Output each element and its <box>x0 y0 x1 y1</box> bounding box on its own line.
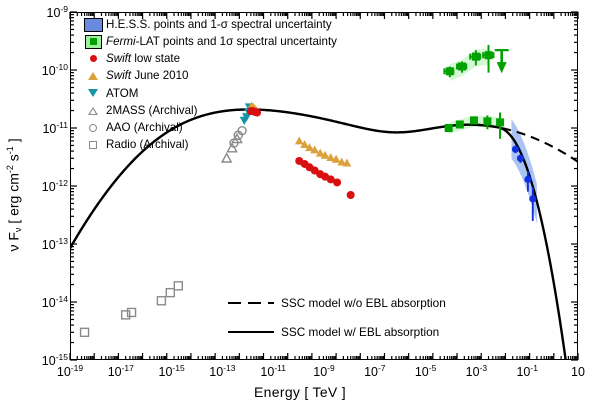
legend-item-atom[interactable]: ATOM <box>82 85 337 102</box>
hess-band-swatch-icon <box>82 18 104 32</box>
legend-item-radio[interactable]: Radio (Archival) <box>82 136 337 153</box>
teal-down-triangle-icon <box>82 89 104 97</box>
x-tick-exponent: -13 <box>223 363 235 373</box>
y-axis-title-end: ] <box>6 138 22 146</box>
x-tick-exponent: -9 <box>327 363 335 373</box>
legend-label-main: H.E.S.S. <box>106 18 150 31</box>
x-tick-mantissa: 10 <box>571 365 585 379</box>
x-tick-mantissa: 10 <box>260 365 274 379</box>
legend-item-aao[interactable]: AAO (Archival) <box>82 119 337 136</box>
legend-label: ATOM <box>104 88 138 100</box>
y-axis-title-prefix: ν F <box>6 232 22 251</box>
y-tick-exponent: -9 <box>60 4 68 14</box>
legend-label: Swift low state <box>104 53 180 65</box>
y-axis-title-sub: ν <box>13 228 23 233</box>
y-tick-exponent: -14 <box>56 294 68 304</box>
open-circle-icon <box>82 124 104 132</box>
x-tick-exponent: -19 <box>71 363 83 373</box>
x-tick-mantissa: 10 <box>415 365 429 379</box>
x-tick-mantissa: 10 <box>158 365 172 379</box>
y-tick-mantissa: 10 <box>47 6 61 20</box>
legend-item-swift-june[interactable]: Swift June 2010 <box>82 68 337 85</box>
annotation-text: SSC model w/ EBL absorption <box>281 325 439 339</box>
x-tick-exponent: -11 <box>274 363 286 373</box>
legend-item-2mass[interactable]: 2MASS (Archival) <box>82 102 337 119</box>
annotation-model-dashed: SSC model w/o EBL absorption <box>228 296 446 310</box>
legend-label-rest: June 2010 <box>131 69 188 82</box>
x-tick-mantissa: 10 <box>466 365 480 379</box>
y-tick-mantissa: 10 <box>42 238 56 252</box>
legend-label-italic: Swift <box>106 52 131 65</box>
y-tick-mantissa: 10 <box>42 180 56 194</box>
x-tick-mantissa: 10 <box>364 365 378 379</box>
x-tick-exponent: -1 <box>530 363 538 373</box>
y-tick-exponent: -11 <box>56 120 68 130</box>
legend-item-swift-low[interactable]: Swift low state <box>82 50 337 67</box>
legend-label: Radio (Archival) <box>104 139 188 151</box>
y-tick-mantissa: 10 <box>42 354 56 368</box>
open-square-icon <box>82 141 104 149</box>
annotation-model-solid: SSC model w/ EBL absorption <box>228 325 439 339</box>
y-axis-title-units: [ erg cm <box>6 173 22 227</box>
legend-item-hess[interactable]: H.E.S.S. points and 1-σ spectral uncerta… <box>82 16 337 33</box>
y-tick-mantissa: 10 <box>42 64 56 78</box>
y-tick-exponent: -15 <box>56 352 68 362</box>
x-tick-mantissa: 10 <box>57 365 71 379</box>
legend-label-italic: Fermi <box>106 35 136 48</box>
annotation-text: SSC model w/o EBL absorption <box>281 296 446 310</box>
legend-label-rest: low state <box>131 52 180 65</box>
y-axis-title: ν Fν [ erg cm-2 s-1 ] <box>5 95 23 295</box>
legend-label: 2MASS (Archival) <box>104 105 197 117</box>
x-tick-mantissa: 10 <box>209 365 223 379</box>
y-tick-exponent: -13 <box>56 236 68 246</box>
fermi-band-swatch-icon <box>82 35 104 49</box>
y-tick-mantissa: 10 <box>42 296 56 310</box>
x-tick-exponent: -17 <box>122 363 134 373</box>
x-tick-mantissa: 10 <box>516 365 530 379</box>
x-tick-exponent: -3 <box>480 363 488 373</box>
y-axis-title-mid: s <box>6 154 22 165</box>
orange-up-triangle-icon <box>82 72 104 80</box>
legend: H.E.S.S. points and 1-σ spectral uncerta… <box>82 16 337 154</box>
x-axis-title: Energy [ TeV ] <box>0 384 600 400</box>
y-tick-mantissa: 10 <box>42 122 56 136</box>
y-axis-title-exp1: -2 <box>5 165 15 173</box>
legend-label-rest: points and 1-σ spectral uncertainty <box>150 18 331 31</box>
legend-label-italic: Swift <box>106 69 131 82</box>
x-tick-exponent: -7 <box>378 363 386 373</box>
y-tick-exponent: -10 <box>56 62 68 72</box>
red-filled-circle-icon <box>82 55 104 62</box>
x-tick-mantissa: 10 <box>108 365 122 379</box>
x-tick-mantissa: 10 <box>313 365 327 379</box>
x-tick-exponent: -15 <box>172 363 184 373</box>
legend-label: Swift June 2010 <box>104 70 189 82</box>
figure-root: 10-15 10-14 10-13 10-12 10-11 10-10 10-9… <box>0 0 600 406</box>
legend-label: H.E.S.S. points and 1-σ spectral uncerta… <box>104 19 332 31</box>
legend-label: Fermi-LAT points and 1σ spectral uncerta… <box>104 36 337 48</box>
y-axis-title-exp2: -1 <box>5 146 15 154</box>
legend-label: AAO (Archival) <box>104 122 183 134</box>
legend-item-fermi[interactable]: Fermi-LAT points and 1σ spectral uncerta… <box>82 33 337 50</box>
y-tick-exponent: -12 <box>56 178 68 188</box>
legend-label-rest: -LAT points and 1σ spectral uncertainty <box>136 35 337 48</box>
x-tick-exponent: -5 <box>429 363 437 373</box>
open-up-triangle-icon <box>82 107 104 115</box>
